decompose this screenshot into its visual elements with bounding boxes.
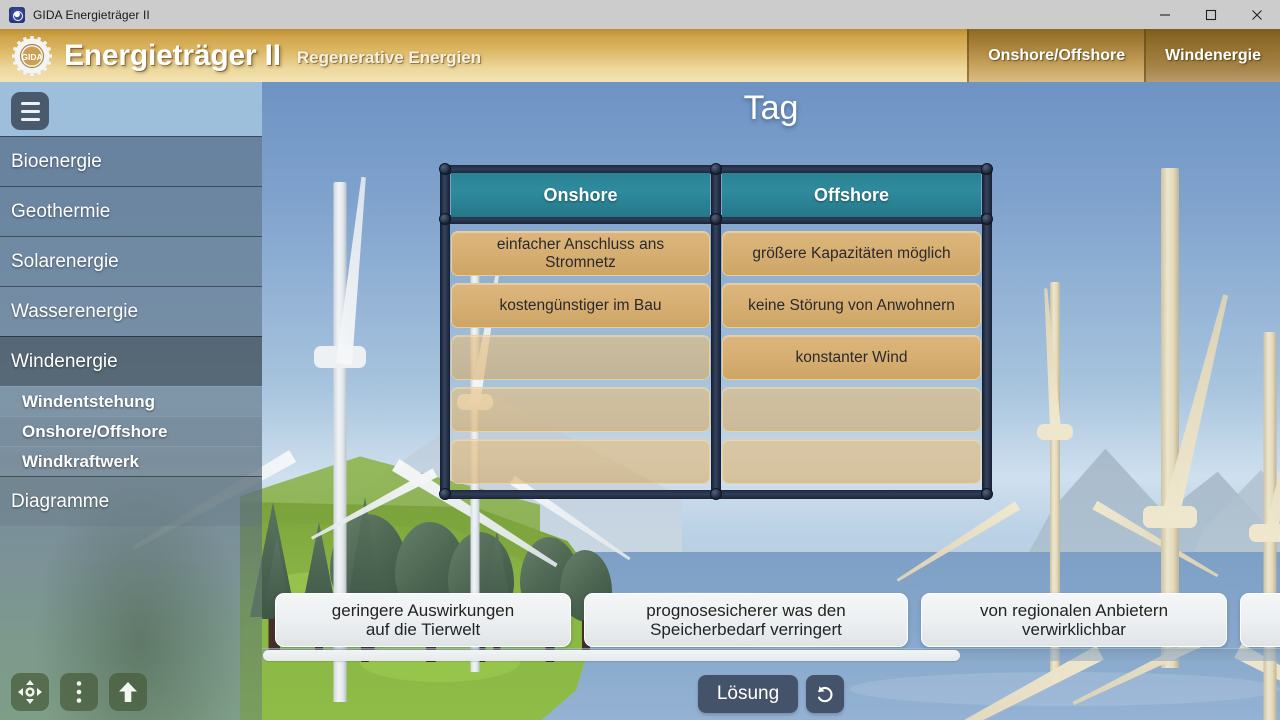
sidebar-item-windenergie[interactable]: Windenergie [0, 336, 262, 386]
gida-logo: GIDA [10, 29, 54, 82]
sidebar: Bioenergie Geothermie Solarenergie Wasse… [0, 82, 262, 720]
pan-button[interactable] [11, 673, 49, 711]
sidebar-subitem-onshore-offshore[interactable]: Onshore/Offshore [0, 416, 262, 446]
sidebar-subitem-label: Windentstehung [22, 392, 155, 412]
window-controls [1142, 0, 1280, 29]
sidebar-item-label: Windenergie [11, 351, 118, 373]
sidebar-subitem-label: Onshore/Offshore [22, 422, 167, 442]
app-header: GIDA Energieträger II Regenerative Energ… [0, 29, 1280, 82]
draggable-card[interactable]: prognosesicherer was den Speicherbedarf … [584, 593, 908, 647]
sidebar-item-wasserenergie[interactable]: Wasserenergie [0, 286, 262, 336]
sidebar-top [0, 82, 262, 136]
main-content: Tag Onshore einfacher Anschluss ans Stro… [262, 82, 1280, 720]
sidebar-item-label: Wasserenergie [11, 301, 138, 323]
drop-slot[interactable]: einfacher Anschluss ans Stromnetz [451, 231, 710, 276]
drop-slots-offshore: größere Kapazitäten möglich keine Störun… [722, 231, 981, 484]
window-title: GIDA Energieträger II [33, 8, 150, 22]
breadcrumb-item-windenergie[interactable]: Windenergie [1144, 29, 1280, 82]
sidebar-nav: Bioenergie Geothermie Solarenergie Wasse… [0, 136, 262, 526]
sidebar-item-label: Geothermie [11, 201, 110, 223]
drop-slots-onshore: einfacher Anschluss ans Stromnetz kosten… [451, 231, 710, 484]
minimize-button[interactable] [1142, 0, 1188, 29]
draggable-card[interactable]: von regionalen Anbietern verwirklichbar [921, 593, 1227, 647]
sidebar-item-diagramme[interactable]: Diagramme [0, 476, 262, 526]
draggable-card[interactable]: geringere Auswirkungen auf die Tierwelt [275, 593, 571, 647]
sidebar-item-bioenergie[interactable]: Bioenergie [0, 136, 262, 186]
sidebar-subitem-windkraftwerk[interactable]: Windkraftwerk [0, 446, 262, 476]
app-title-block: Energieträger II Regenerative Energien [54, 29, 967, 82]
drop-slot[interactable] [451, 387, 710, 432]
breadcrumb: Onshore/Offshore Windenergie [967, 29, 1280, 82]
sidebar-subitem-label: Windkraftwerk [22, 452, 139, 472]
page-title: Tag [262, 89, 1280, 128]
drop-slot[interactable]: kostengünstiger im Bau [451, 283, 710, 328]
hamburger-icon [21, 110, 40, 113]
arrow-up-icon [117, 680, 139, 704]
column-header-onshore: Onshore [451, 173, 710, 217]
hamburger-icon [21, 102, 40, 105]
maximize-button[interactable] [1188, 0, 1234, 29]
scrollbar-thumb[interactable] [263, 650, 960, 661]
breadcrumb-item-onshore-offshore[interactable]: Onshore/Offshore [967, 29, 1144, 82]
comparison-table: Onshore einfacher Anschluss ans Stromnet… [440, 165, 992, 499]
more-options-button[interactable] [60, 673, 98, 711]
drop-slot[interactable] [451, 335, 710, 380]
sidebar-item-solarenergie[interactable]: Solarenergie [0, 236, 262, 286]
up-button[interactable] [109, 673, 147, 711]
drop-slot[interactable]: größere Kapazitäten möglich [722, 231, 981, 276]
sidebar-item-label: Diagramme [11, 491, 109, 513]
sidebar-item-label: Bioenergie [11, 151, 102, 173]
close-button[interactable] [1234, 0, 1280, 29]
pan-icon [17, 679, 43, 705]
sidebar-tools [11, 673, 147, 711]
sidebar-subitem-windentstehung[interactable]: Windentstehung [0, 386, 262, 416]
hamburger-menu-button[interactable] [11, 92, 49, 130]
more-options-icon [75, 679, 83, 705]
reset-button[interactable] [806, 675, 844, 713]
drop-slot[interactable] [451, 439, 710, 484]
reset-icon [814, 683, 836, 705]
draggable-card[interactable]: Wa [1240, 593, 1280, 647]
card-tray: geringere Auswirkungen auf die Tierwelt … [262, 589, 1280, 651]
app-logo-icon [9, 7, 25, 23]
drop-slot[interactable]: konstanter Wind [722, 335, 981, 380]
horizontal-scrollbar[interactable] [262, 648, 1280, 661]
solution-button[interactable]: Lösung [698, 675, 798, 713]
footer-controls: Lösung [262, 668, 1280, 720]
table-column-onshore: Onshore einfacher Anschluss ans Stromnet… [444, 169, 716, 495]
gear-icon: GIDA [12, 36, 52, 76]
drop-slot[interactable]: keine Störung von Anwohnern [722, 283, 981, 328]
table-column-offshore: Offshore größere Kapazitäten möglich kei… [716, 169, 988, 495]
window-titlebar: GIDA Energieträger II [0, 0, 1280, 29]
sidebar-item-geothermie[interactable]: Geothermie [0, 186, 262, 236]
column-header-offshore: Offshore [722, 173, 981, 217]
sidebar-item-label: Solarenergie [11, 251, 119, 273]
drop-slot[interactable] [722, 439, 981, 484]
svg-text:GIDA: GIDA [21, 52, 42, 62]
drop-slot[interactable] [722, 387, 981, 432]
app-title: Energieträger II [64, 39, 281, 73]
app-subtitle: Regenerative Energien [297, 48, 481, 68]
hamburger-icon [21, 118, 40, 121]
